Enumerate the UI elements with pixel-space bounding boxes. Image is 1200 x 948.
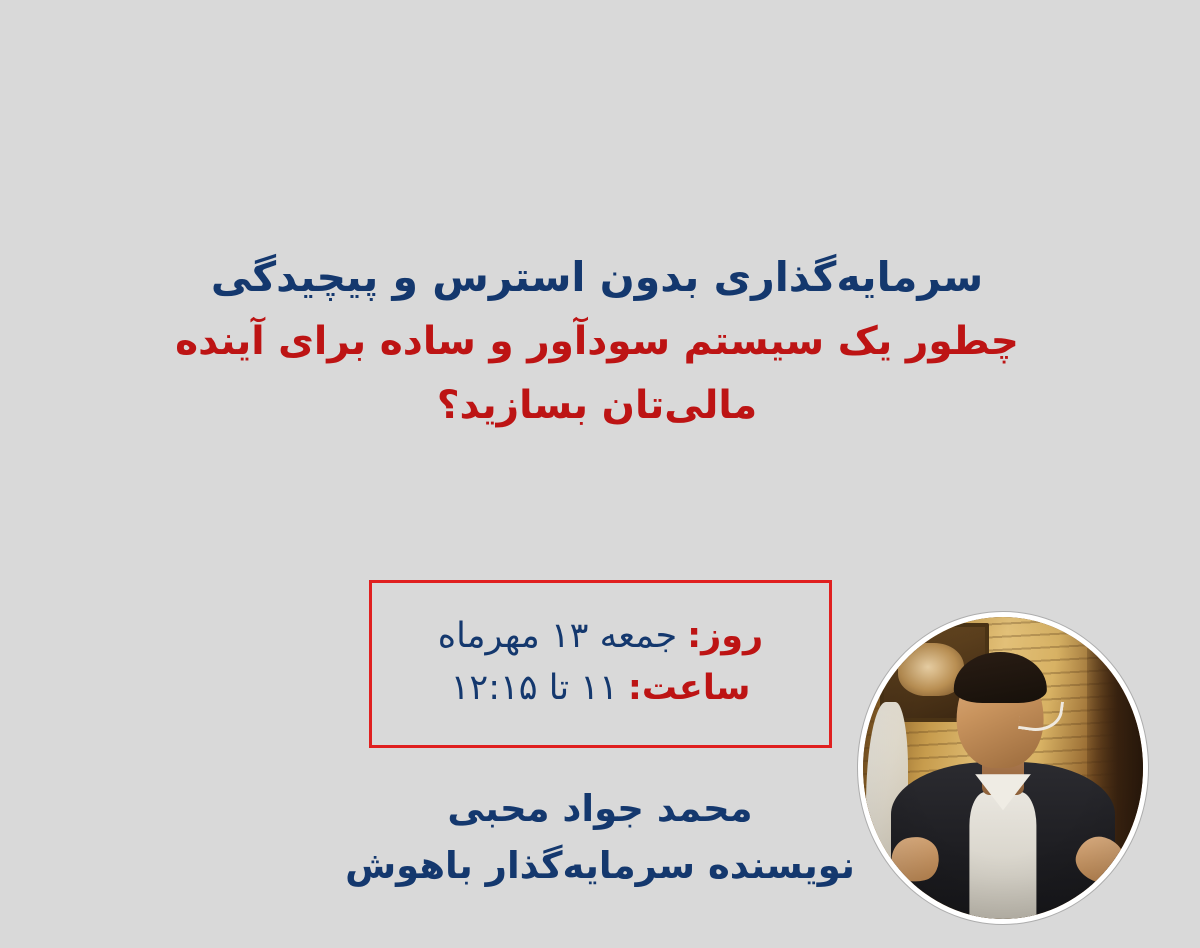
headline-line-1: سرمایه‌گذاری بدون استرس و پیچیدگی xyxy=(152,244,1042,310)
event-time-label: ساعت: xyxy=(628,662,751,715)
event-time-value: ۱۱ تا ۱۲:۱۵ xyxy=(451,662,618,715)
speaker-block: محمد جواد محبی نویسنده سرمایه‌گذار باهوش xyxy=(340,780,860,895)
speaker-title: نویسنده سرمایه‌گذار باهوش xyxy=(340,837,860,894)
event-day-row: روز: جمعه ۱۳ مهرماه xyxy=(390,610,811,663)
event-details-box: روز: جمعه ۱۳ مهرماه ساعت: ۱۱ تا ۱۲:۱۵ xyxy=(369,580,832,748)
speaker-photo xyxy=(858,612,1148,924)
speaker-name: محمد جواد محبی xyxy=(340,780,860,837)
headline-line-3: مالی‌تان بسازید؟ xyxy=(152,374,1042,437)
event-day-label: روز: xyxy=(687,610,763,663)
headline-block: سرمایه‌گذاری بدون استرس و پیچیدگی چطور ی… xyxy=(152,244,1042,437)
headline-line-2: چطور یک سیستم سودآور و ساده برای آینده xyxy=(152,310,1042,373)
event-poster: سرمایه‌گذاری بدون استرس و پیچیدگی چطور ی… xyxy=(0,0,1200,948)
speaker-photo-image xyxy=(863,617,1143,919)
event-day-value: جمعه ۱۳ مهرماه xyxy=(438,610,677,663)
photo-vignette xyxy=(863,617,1143,919)
event-time-row: ساعت: ۱۱ تا ۱۲:۱۵ xyxy=(390,662,811,715)
